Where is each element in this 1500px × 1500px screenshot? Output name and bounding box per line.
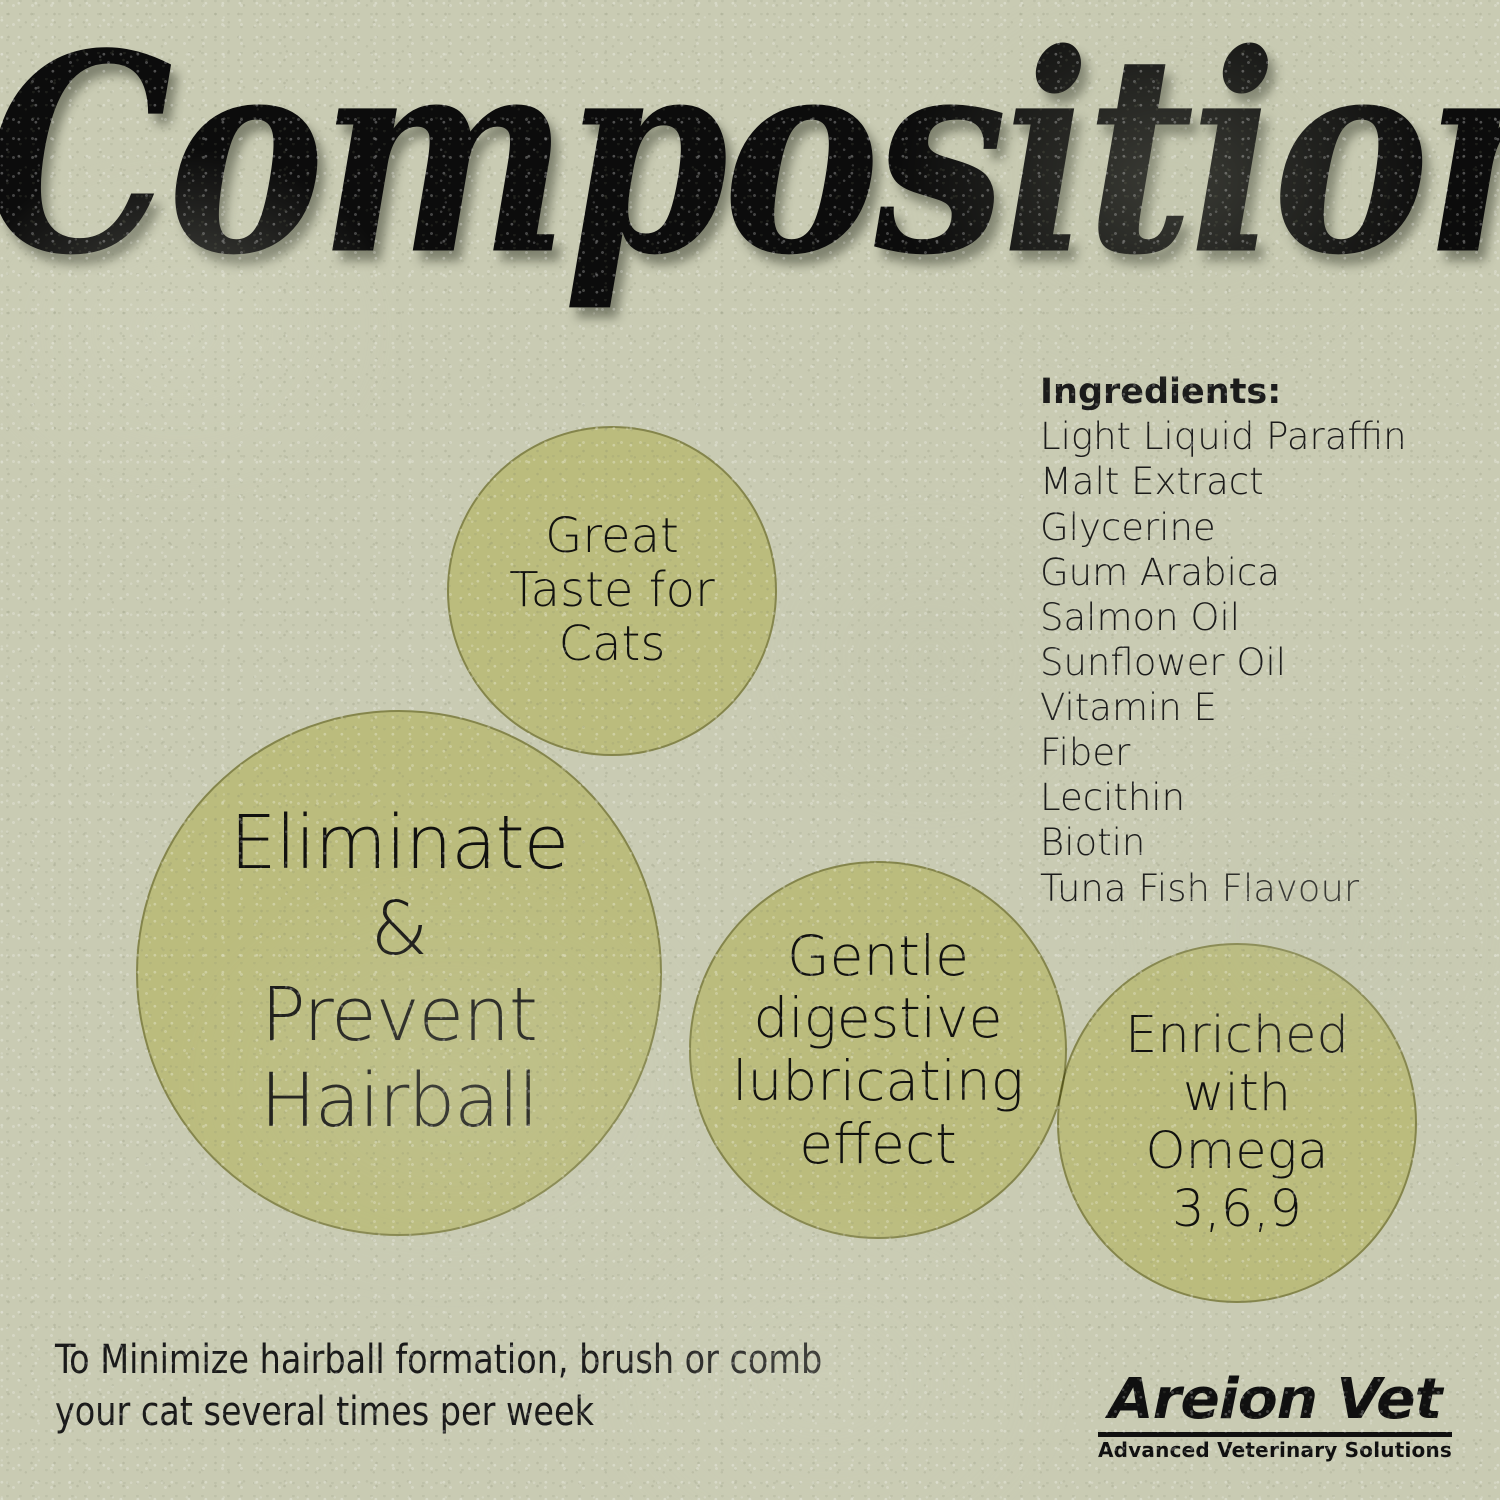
feature-circle-great-taste-for-cats: Great Taste for Cats [447, 426, 777, 756]
ingredients-list: Ingredients: Light Liquid Paraffin Malt … [1040, 372, 1460, 911]
ingredients-heading: Ingredients: [1040, 372, 1460, 413]
brand-logo-wordmark: Areion Vet [1091, 1372, 1459, 1428]
ingredient-item: Fiber [1040, 730, 1460, 775]
brand-logo: Areion Vet Advanced Veterinary Solutions [1098, 1372, 1452, 1460]
ingredient-item: Sunflower Oil [1040, 640, 1460, 685]
brand-logo-tagline: Advanced Veterinary Solutions [1098, 1440, 1452, 1460]
ingredient-item: Malt Extract [1040, 459, 1460, 504]
page-title: Composition [0, 18, 1500, 292]
feature-circle-label: Gentle digestive lubricating effect [732, 925, 1024, 1176]
feature-circle-gentle-digestive-lubricating-effect: Gentle digestive lubricating effect [689, 861, 1067, 1239]
feature-circle-label: Eliminate & Prevent Hairball [230, 801, 568, 1144]
feature-circle-enriched-with-omega: Enriched with Omega 3,6,9 [1057, 943, 1417, 1303]
ingredient-item: Biotin [1040, 820, 1460, 865]
composition-poster: Composition Eliminate & Prevent Hairball… [0, 0, 1500, 1500]
ingredient-item: Glycerine [1040, 505, 1460, 550]
feature-circle-eliminate-prevent-hairball: Eliminate & Prevent Hairball [136, 710, 662, 1236]
ingredient-item: Light Liquid Paraffin [1040, 414, 1460, 459]
ingredient-item: Gum Arabica [1040, 550, 1460, 595]
ingredient-item: Lecithin [1040, 775, 1460, 820]
brand-logo-divider [1098, 1432, 1452, 1437]
ingredient-item: Vitamin E [1040, 685, 1460, 730]
feature-circle-label: Enriched with Omega 3,6,9 [1125, 1007, 1349, 1240]
feature-circle-label: Great Taste for Cats [509, 510, 714, 671]
ingredient-item: Tuna Fish Flavour [1040, 866, 1460, 911]
footer-care-note: To Minimize hairball formation, brush or… [55, 1334, 873, 1438]
ingredient-item: Salmon Oil [1040, 595, 1460, 640]
